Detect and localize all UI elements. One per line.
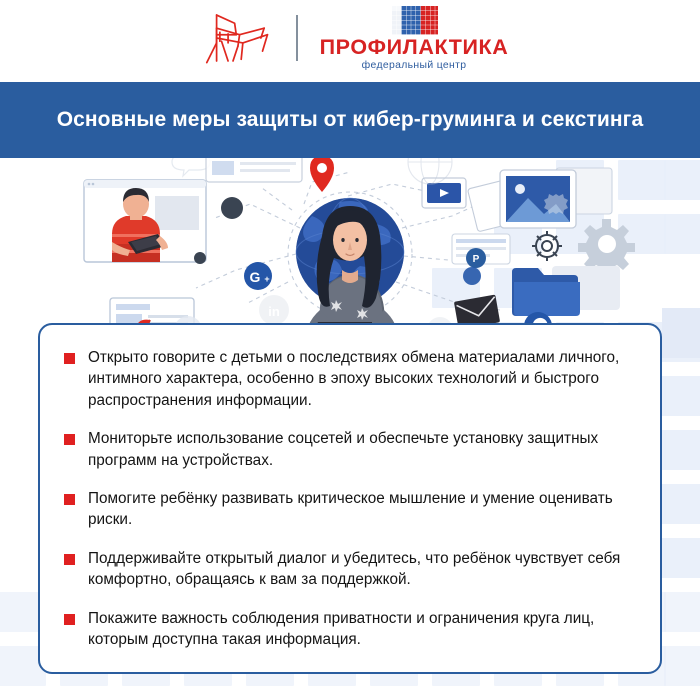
bullet-text: Поддерживайте открытый диалог и убедитес…	[88, 548, 634, 591]
bullet-text: Открыто говорите с детьми о последствиях…	[88, 347, 634, 411]
bullet-text: Помогите ребёнку развивать критическое м…	[88, 488, 634, 531]
bg-square	[664, 376, 700, 416]
svg-text:P: P	[473, 254, 480, 265]
bg-square-accent	[662, 308, 700, 358]
measures-card: Открыто говорите с детьми о последствиях…	[38, 323, 662, 674]
chair-line-art-icon	[192, 10, 274, 66]
brand-name: ПРОФИЛАКТИКА	[320, 37, 509, 59]
bullet-item: Помогите ребёнку развивать критическое м…	[64, 488, 634, 531]
brand-header: ПРОФИЛАКТИКА федеральный центр	[0, 0, 700, 76]
bullet-square-icon	[64, 614, 75, 625]
infographic-page: ПРОФИЛАКТИКА федеральный центр Основные …	[0, 0, 700, 700]
bullet-item: Покажите важность соблюдения приватности…	[64, 608, 634, 651]
vertical-divider-icon	[296, 15, 298, 61]
bullet-square-icon	[64, 554, 75, 565]
pixel-grid-logo-icon	[390, 5, 438, 35]
bg-square	[664, 538, 700, 578]
bullet-item: Мониторьте использование соцсетей и обес…	[64, 428, 634, 471]
dot-decoration	[194, 252, 206, 264]
bg-square	[664, 430, 700, 470]
folder-icon	[512, 266, 620, 316]
bg-square	[664, 484, 700, 524]
dot-decoration	[221, 197, 243, 219]
svg-text:in: in	[268, 304, 280, 319]
bullet-square-icon	[64, 494, 75, 505]
location-pin-icon	[310, 158, 334, 192]
bg-square	[664, 592, 700, 632]
bullet-square-icon	[64, 353, 75, 364]
image-card-icon	[467, 168, 612, 232]
video-play-icon	[422, 178, 466, 208]
google-plus-icon: G +	[244, 262, 272, 290]
title-banner: Основные меры защиты от кибер-груминга и…	[0, 82, 700, 158]
bg-square	[664, 646, 700, 686]
pinterest-icon: P	[466, 248, 486, 268]
page-title: Основные меры защиты от кибер-груминга и…	[57, 106, 644, 134]
svg-text:+: +	[264, 274, 269, 284]
brand-subtitle: федеральный центр	[362, 61, 467, 71]
dot-decoration	[463, 267, 481, 285]
man-with-tablet-video-window	[84, 180, 206, 262]
bullet-text: Покажите важность соблюдения приватности…	[88, 608, 634, 651]
svg-text:G: G	[250, 269, 261, 285]
linkedin-icon: in	[259, 295, 289, 325]
gear-icon	[532, 231, 562, 261]
bullet-square-icon	[64, 434, 75, 445]
bullet-item: Поддерживайте открытый диалог и убедитес…	[64, 548, 634, 591]
brand-lockup: ПРОФИЛАКТИКА федеральный центр	[320, 5, 509, 72]
bullet-item: Открыто говорите с детьми о последствиях…	[64, 347, 634, 411]
bullet-text: Мониторьте использование соцсетей и обес…	[88, 428, 634, 471]
